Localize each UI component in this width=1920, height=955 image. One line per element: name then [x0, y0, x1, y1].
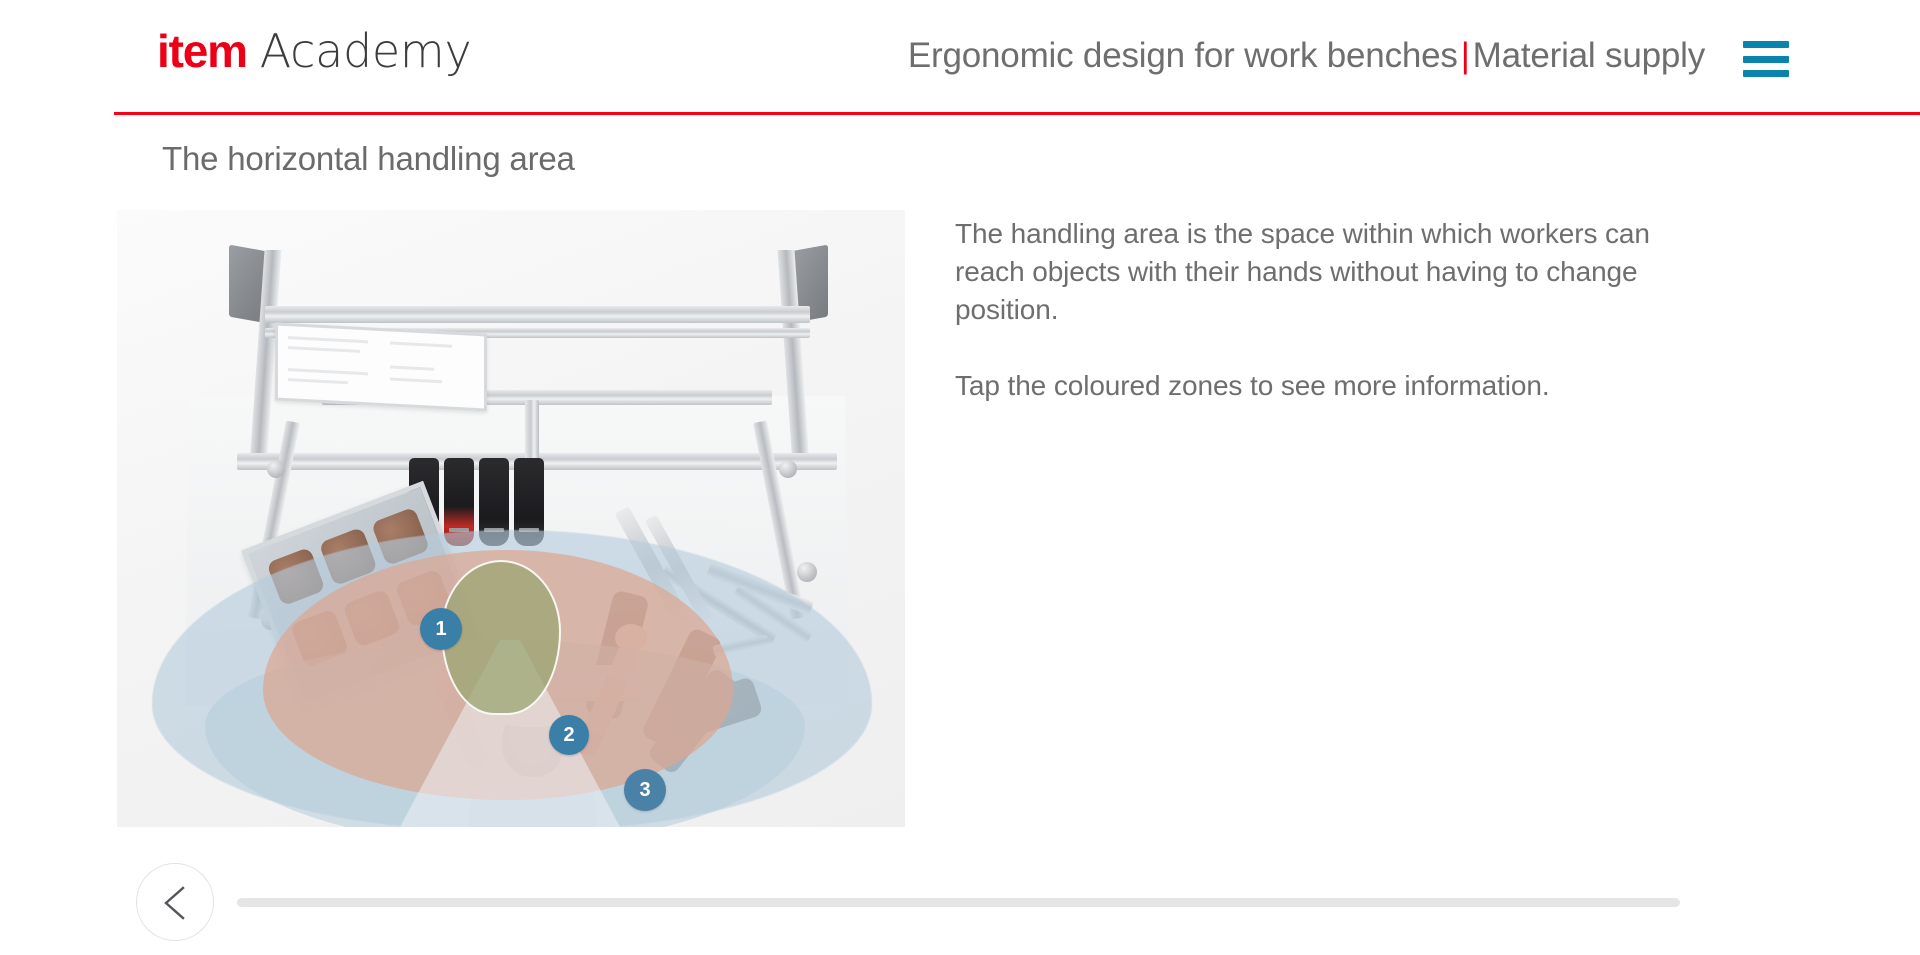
breadcrumb-separator: |: [1458, 36, 1473, 75]
parts-bin-3: [479, 458, 509, 546]
main-content: 1 2 3 The handling area is the space wit…: [0, 205, 1920, 835]
header-divider: [114, 112, 1920, 115]
brand-name-item: item: [157, 24, 247, 78]
bench-cross-brace: [525, 400, 539, 462]
footer-navigation: [0, 855, 1920, 955]
brand-logo[interactable]: item Academy: [157, 24, 471, 78]
description-paragraph-1: The handling area is the space within wh…: [955, 215, 1685, 329]
breadcrumb: Ergonomic design for work benches|Materi…: [908, 36, 1705, 76]
back-button[interactable]: [136, 863, 214, 941]
page-title: The horizontal handling area: [162, 140, 575, 178]
hamburger-menu-icon[interactable]: [1743, 38, 1789, 80]
bench-joint-right: [779, 460, 797, 478]
worker-hand-left: [439, 660, 469, 686]
workbench-figure[interactable]: 1 2 3: [117, 210, 905, 827]
bench-joint-right-lower: [797, 562, 817, 582]
hotspot-marker-2[interactable]: 2: [549, 715, 589, 755]
hotspot-marker-3[interactable]: 3: [624, 769, 666, 811]
parts-bin-2: [444, 458, 474, 546]
app-header: item Academy Ergonomic design for work b…: [0, 0, 1920, 114]
menu-bar-bottom: [1743, 70, 1789, 77]
brand-name-academy: Academy: [260, 24, 472, 78]
chevron-left-icon: [137, 864, 215, 942]
bench-rail-upper: [265, 306, 810, 323]
menu-bar-top: [1743, 41, 1789, 48]
parts-bin-4: [514, 458, 544, 546]
breadcrumb-section-title: Material supply: [1473, 36, 1705, 75]
bench-joint-left: [267, 460, 285, 478]
breadcrumb-course-title: Ergonomic design for work benches: [908, 36, 1458, 75]
document-shelf-panel: [275, 322, 487, 411]
worker-hand-right: [615, 624, 647, 652]
menu-bar-middle: [1743, 56, 1789, 63]
progress-bar[interactable]: [237, 898, 1680, 907]
description-column: The handling area is the space within wh…: [955, 215, 1685, 405]
hotspot-marker-1[interactable]: 1: [420, 608, 462, 650]
description-paragraph-2: Tap the coloured zones to see more infor…: [955, 367, 1685, 405]
